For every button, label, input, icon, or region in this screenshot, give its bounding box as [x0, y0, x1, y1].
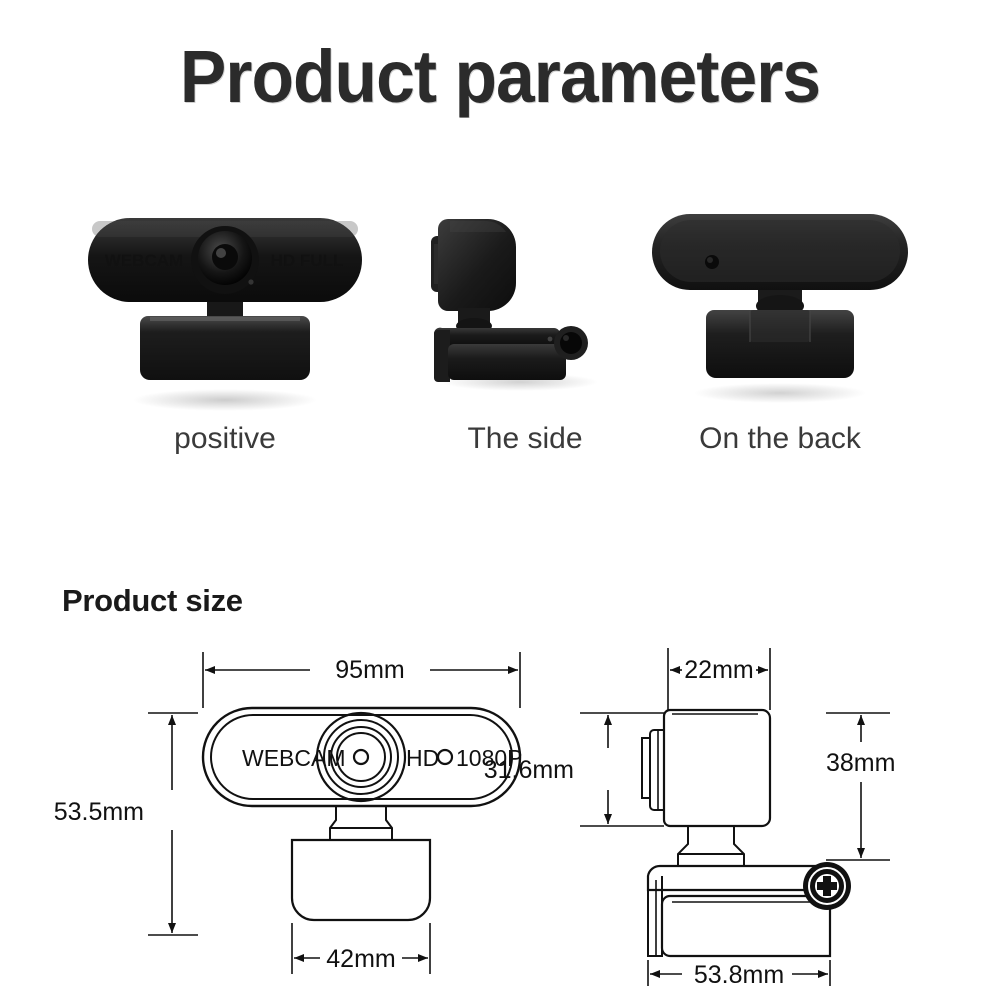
product-size-heading: Product size: [62, 583, 243, 619]
side-dimension-drawing: 22mm 31.6mm 38mm 53.8mm: [530, 630, 1000, 990]
dimension-label-53-5mm: 53.5mm: [54, 798, 144, 826]
phillips-screw-icon: [803, 862, 851, 910]
dimension-label-42mm: 42mm: [326, 945, 395, 973]
product-photo-row: WEBCAM HD FULL positive: [0, 200, 1000, 480]
drawing-spec-text-hd: HD: [406, 745, 439, 771]
front-dimension-drawing: 95mm 53.5mm 42mm WEBCAM HD 1080P: [20, 630, 550, 990]
drawing-brand-text: WEBCAM: [242, 745, 346, 771]
dimension-label-95mm: 95mm: [335, 656, 404, 684]
webcam-front-photo: WEBCAM HD FULL: [80, 200, 370, 415]
product-view-side: The side: [410, 200, 640, 480]
webcam-back-photo: [640, 200, 920, 415]
product-view-caption-side: The side: [410, 422, 640, 456]
dimension-label-22mm: 22mm: [684, 656, 753, 684]
product-view-back: On the back: [640, 200, 920, 480]
product-view-front: WEBCAM HD FULL positive: [80, 200, 370, 480]
page-title: Product parameters: [30, 34, 970, 119]
front-photo-spec-text: HD FULL: [271, 251, 344, 270]
product-view-caption-front: positive: [80, 422, 370, 456]
dimension-label-38mm: 38mm: [826, 749, 895, 777]
hd-circle-icon: [438, 750, 452, 764]
product-view-caption-back: On the back: [640, 422, 920, 456]
dimension-label-53-8mm: 53.8mm: [694, 961, 784, 989]
front-photo-brand-text: WEBCAM: [105, 251, 183, 270]
dimension-label-31-6mm: 31.6mm: [484, 756, 574, 784]
webcam-side-photo: [410, 200, 640, 415]
